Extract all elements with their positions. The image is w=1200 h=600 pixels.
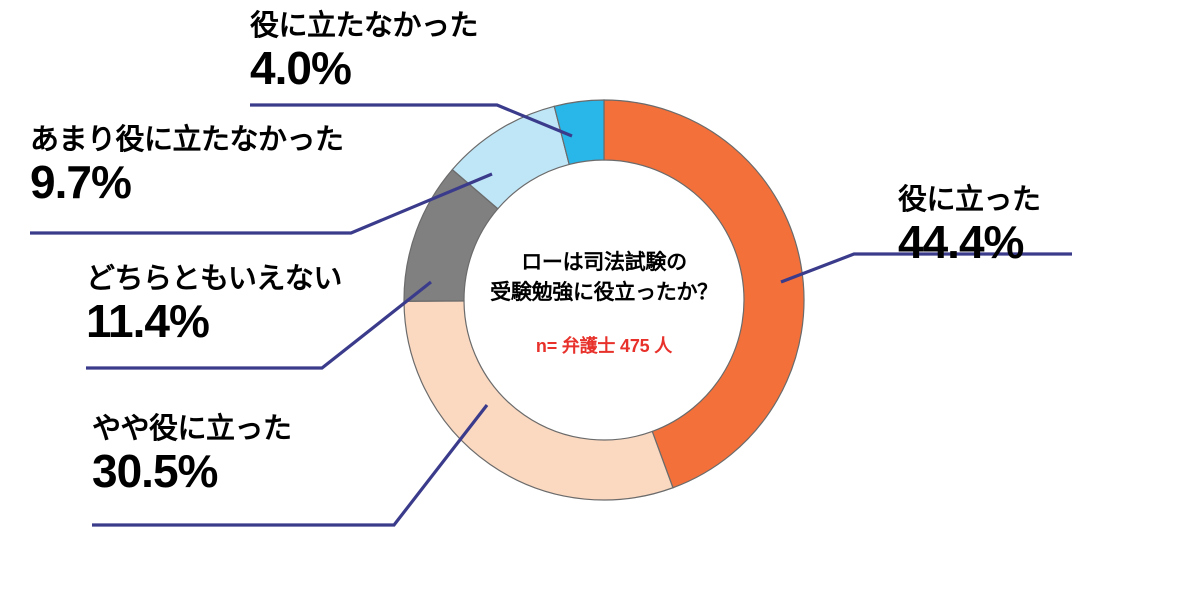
callout-dochira-tomo-ienai: どちらともいえない 11.4%: [86, 265, 342, 344]
callout-amari-yakuni-tatanakatta: あまり役に立たなかった 9.7%: [30, 126, 344, 205]
donut-chart-figure: ローは司法試験の 受験勉強に役立ったか？ n= 弁護士 475 人 役に立った …: [0, 0, 1200, 600]
callout-percent-value: 11.4%: [86, 298, 342, 344]
callout-category-label: どちらともいえない: [86, 265, 342, 294]
donut-segments: [404, 100, 804, 500]
callout-percent-value: 30.5%: [92, 448, 292, 494]
donut-segment-yaya-yakuni-tatta[interactable]: [404, 301, 673, 500]
callout-yakuni-tatta: 役に立った 44.4%: [898, 186, 1041, 265]
callout-category-label: 役に立った: [898, 186, 1041, 215]
callout-percent-value: 9.7%: [30, 159, 344, 205]
callout-percent-value: 4.0%: [250, 45, 478, 91]
callout-percent-value: 44.4%: [898, 219, 1041, 265]
callout-category-label: あまり役に立たなかった: [30, 126, 344, 155]
donut-segment-yakuni-tatta[interactable]: [604, 100, 804, 488]
callout-category-label: やや役に立った: [92, 415, 292, 444]
callout-yakuni-tatanakatta: 役に立たなかった 4.0%: [250, 12, 478, 91]
callout-category-label: 役に立たなかった: [250, 12, 478, 41]
callout-yaya-yakuni-tatta: やや役に立った 30.5%: [92, 415, 292, 494]
